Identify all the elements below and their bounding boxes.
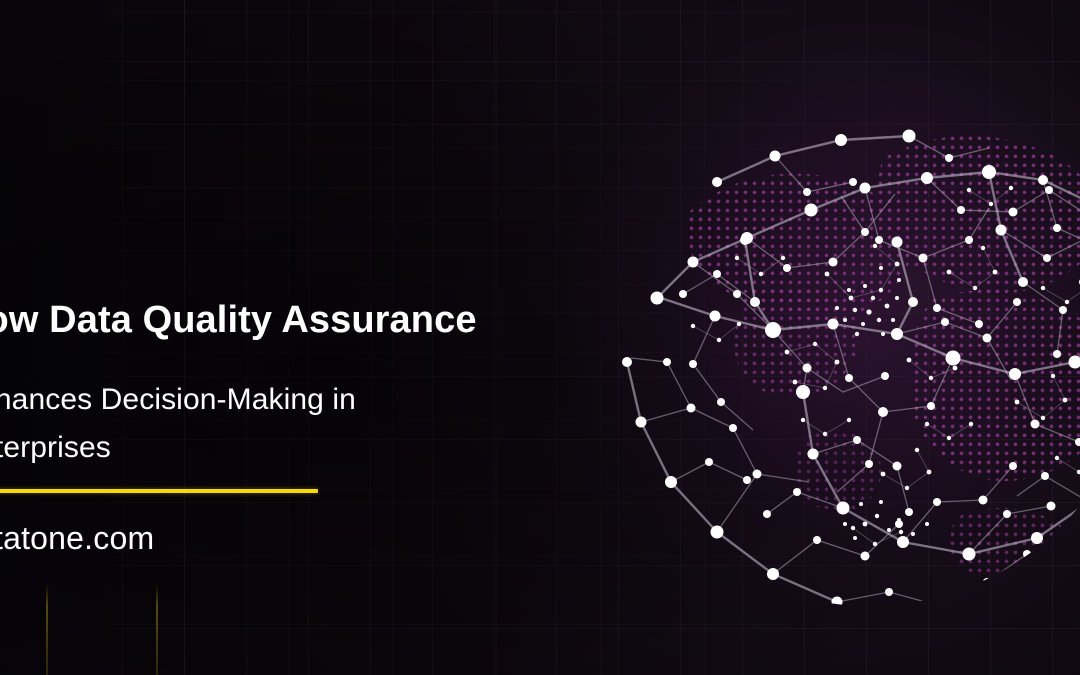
accent-line-right bbox=[156, 584, 158, 675]
domain-text: datatone.com bbox=[0, 520, 154, 557]
yellow-divider bbox=[0, 489, 318, 493]
globe-continents bbox=[687, 136, 1080, 585]
text-block: How Data Quality Assurance Enhances Deci… bbox=[0, 296, 638, 472]
globe-svg bbox=[597, 62, 1080, 607]
accent-line-left bbox=[46, 584, 48, 675]
subtitle-line-1: Enhances Decision-Making in bbox=[0, 376, 458, 424]
network-globe-graphic bbox=[597, 62, 1080, 607]
banner-root: How Data Quality Assurance Enhances Deci… bbox=[0, 0, 1080, 675]
subtitle-line-2: Enterprises bbox=[0, 424, 458, 472]
page-title: How Data Quality Assurance bbox=[0, 296, 638, 344]
subtitle-group: Enhances Decision-Making in Enterprises bbox=[0, 376, 458, 472]
